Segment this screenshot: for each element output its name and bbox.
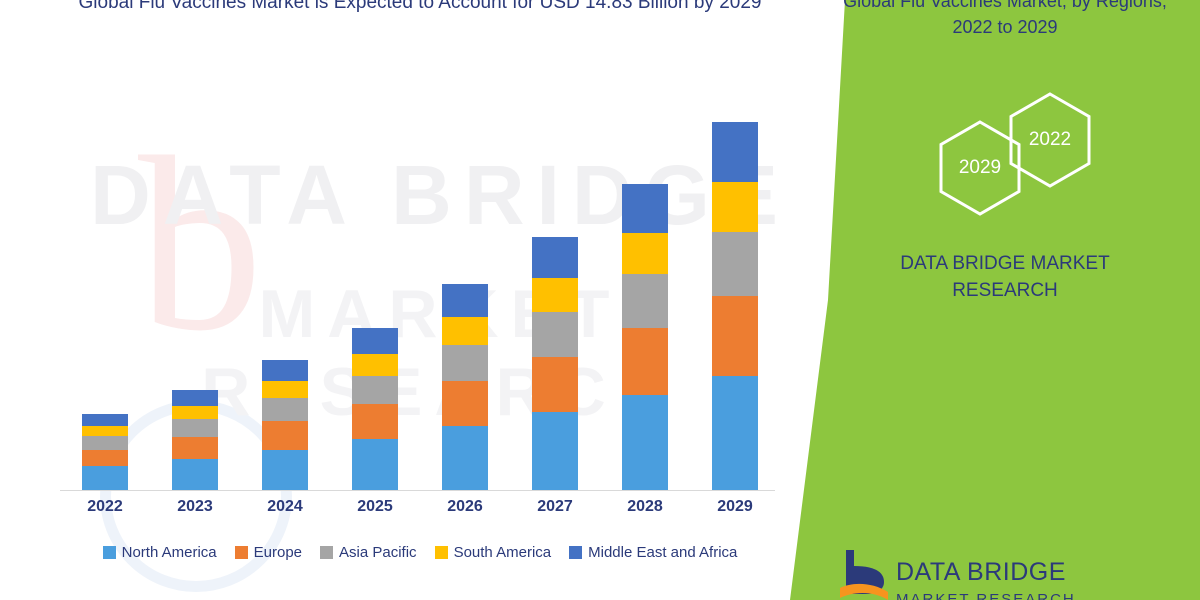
bar-segment <box>622 233 668 274</box>
bar-segment <box>352 376 398 405</box>
bar-group <box>712 122 758 490</box>
legend-item: South America <box>435 544 552 561</box>
x-axis-tick-label: 2025 <box>335 498 415 516</box>
legend-item: Europe <box>235 544 302 561</box>
bar-segment <box>622 395 668 490</box>
legend-item: Asia Pacific <box>320 544 417 561</box>
bar-segment <box>712 122 758 182</box>
x-axis-tick-label: 2028 <box>605 498 685 516</box>
bar-segment <box>352 328 398 354</box>
x-axis-tick-label: 2023 <box>155 498 235 516</box>
bar-group <box>532 237 578 490</box>
panel-title: Global Flu Vaccines Market, by Regions, … <box>830 0 1180 40</box>
hexagon-2022: 2022 <box>1006 91 1094 189</box>
bar-segment <box>262 421 308 450</box>
bar-segment <box>172 406 218 419</box>
bar-segment <box>622 328 668 395</box>
bar-segment <box>262 450 308 490</box>
legend-item: North America <box>103 544 217 561</box>
legend-label: Europe <box>254 544 302 561</box>
bar-segment <box>532 312 578 357</box>
panel-brand: DATA BRIDGE MARKET RESEARCH <box>885 250 1125 304</box>
logo-name: DATA BRIDGE <box>896 558 1066 587</box>
bar-group <box>622 184 668 490</box>
bar-segment <box>352 354 398 376</box>
legend-item: Middle East and Africa <box>569 544 737 561</box>
data-bridge-logo-icon <box>838 548 890 600</box>
bar-segment <box>622 184 668 234</box>
bar-group <box>172 390 218 490</box>
bar-segment <box>532 237 578 278</box>
legend-swatch <box>435 546 448 559</box>
hexagon-2022-label: 2022 <box>1006 129 1094 151</box>
panel-brand-line-1: DATA BRIDGE MARKET <box>885 250 1125 277</box>
bar-segment <box>622 274 668 328</box>
bar-segment <box>712 232 758 297</box>
bar-segment <box>172 437 218 459</box>
legend-swatch <box>103 546 116 559</box>
bar-segment <box>82 426 128 436</box>
bar-segment <box>262 398 308 421</box>
stacked-bar-chart <box>60 60 780 490</box>
bar-segment <box>82 466 128 490</box>
bar-group <box>442 284 488 490</box>
logo: DATA BRIDGE MARKET RESEARCH <box>838 548 1178 600</box>
bar-segment <box>352 404 398 439</box>
chart-legend: North AmericaEuropeAsia PacificSouth Ame… <box>55 540 785 564</box>
bar-group <box>82 414 128 490</box>
bar-segment <box>712 182 758 232</box>
bar-group <box>262 360 308 490</box>
legend-label: Asia Pacific <box>339 544 417 561</box>
bar-segment <box>442 345 488 381</box>
bar-group <box>352 328 398 490</box>
panel-brand-line-2: RESEARCH <box>885 277 1125 304</box>
bar-segment <box>442 381 488 426</box>
x-axis-tick-label: 2029 <box>695 498 775 516</box>
legend-label: Middle East and Africa <box>588 544 737 561</box>
bar-segment <box>532 278 578 313</box>
legend-swatch <box>235 546 248 559</box>
x-axis-tick-label: 2027 <box>515 498 595 516</box>
bar-segment <box>262 360 308 381</box>
bar-segment <box>172 390 218 406</box>
x-axis-line <box>60 490 775 491</box>
x-axis-tick-label: 2024 <box>245 498 325 516</box>
x-axis-labels: 20222023202420252026202720282029 <box>60 498 780 524</box>
infographic-root: b DATA BRIDGE MARKET RESEARCH Global Flu… <box>0 0 1200 600</box>
bar-segment <box>352 439 398 490</box>
bar-segment <box>532 412 578 490</box>
legend-swatch <box>569 546 582 559</box>
legend-label: North America <box>122 544 217 561</box>
x-axis-tick-label: 2026 <box>425 498 505 516</box>
bar-segment <box>532 357 578 412</box>
chart-title: Global Flu Vaccines Market is Expected t… <box>60 0 780 17</box>
logo-subtitle: MARKET RESEARCH <box>896 591 1076 600</box>
bar-segment <box>442 317 488 345</box>
bar-segment <box>442 284 488 318</box>
bar-segment <box>172 459 218 490</box>
hexagon-group: 2029 2022 <box>930 105 1120 215</box>
bar-segment <box>712 296 758 376</box>
bar-segment <box>712 376 758 490</box>
x-axis-tick-label: 2022 <box>65 498 145 516</box>
bar-segment <box>82 450 128 467</box>
bar-segment <box>262 381 308 399</box>
bar-segment <box>82 436 128 449</box>
bar-segment <box>82 414 128 426</box>
bar-segment <box>442 426 488 490</box>
bar-segment <box>172 419 218 437</box>
legend-swatch <box>320 546 333 559</box>
legend-label: South America <box>454 544 552 561</box>
